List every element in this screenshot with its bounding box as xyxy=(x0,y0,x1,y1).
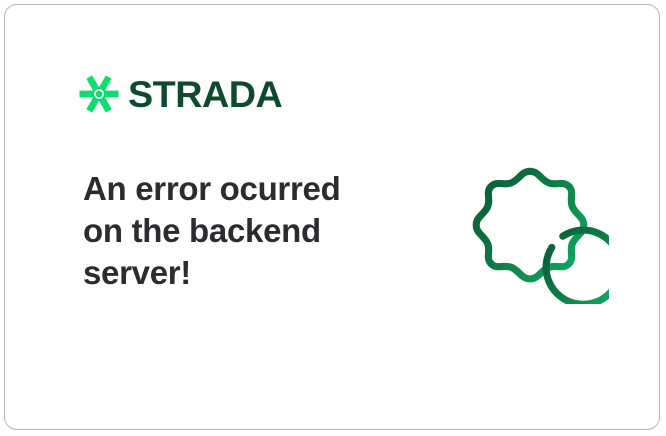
gear-illustration xyxy=(451,146,609,304)
error-card: STRADA An error ocurred on the backend s… xyxy=(4,4,660,430)
error-message: An error ocurred on the backend server! xyxy=(83,168,383,294)
brand-wordmark: STRADA xyxy=(128,76,282,113)
gear-cog-icon xyxy=(451,146,609,304)
strada-asterisk-logo-mark xyxy=(79,74,119,114)
brand-logo: STRADA xyxy=(79,71,279,117)
